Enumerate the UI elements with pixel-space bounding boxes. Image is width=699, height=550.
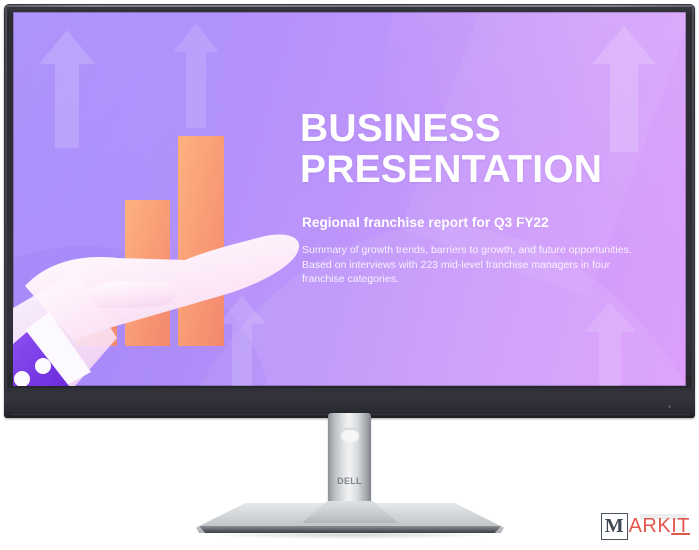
watermark-text-plain: ARK — [629, 515, 672, 537]
watermark-badge-letter: M — [601, 513, 628, 540]
slide-body-text: Summary of growth trends, barriers to gr… — [302, 243, 632, 288]
chassis-right-highlight — [692, 7, 694, 400]
markit-watermark: M ARKIT — [601, 513, 690, 540]
hand-holding-bar-chart-illustration — [13, 76, 303, 386]
slide-title-line-1: BUSINESS — [300, 107, 501, 150]
chassis-top-highlight — [6, 5, 693, 7]
illustration-sleeve-button-1 — [35, 358, 51, 374]
chassis-left-highlight — [5, 7, 7, 400]
watermark-text-underlined: IT — [671, 515, 690, 537]
stand-drop-shadow — [210, 531, 490, 539]
slide-text-block: BUSINESSPRESENTATION Regional franchise … — [300, 108, 650, 287]
illustration-bar-3 — [178, 136, 224, 346]
watermark-wordmark: ARKIT — [629, 515, 690, 538]
monitor-screen: BUSINESSPRESENTATION Regional franchise … — [13, 12, 686, 386]
power-led-indicator[interactable] — [668, 405, 671, 408]
slide-title-line-2: PRESENTATION — [300, 148, 602, 191]
growth-arrow-icon-5 — [584, 302, 636, 386]
product-photo-stage: BUSINESSPRESENTATION Regional franchise … — [0, 0, 699, 550]
cable-management-slot — [340, 428, 359, 441]
dell-logo-stand: DELL — [337, 476, 362, 486]
monitor-stand-base — [196, 503, 504, 533]
slide-title: BUSINESSPRESENTATION — [300, 108, 650, 191]
dell-monitor: BUSINESSPRESENTATION Regional franchise … — [4, 4, 695, 418]
slide-subtitle: Regional franchise report for Q3 FY22 — [302, 215, 650, 230]
monitor-stand-neck: DELL — [328, 413, 371, 508]
